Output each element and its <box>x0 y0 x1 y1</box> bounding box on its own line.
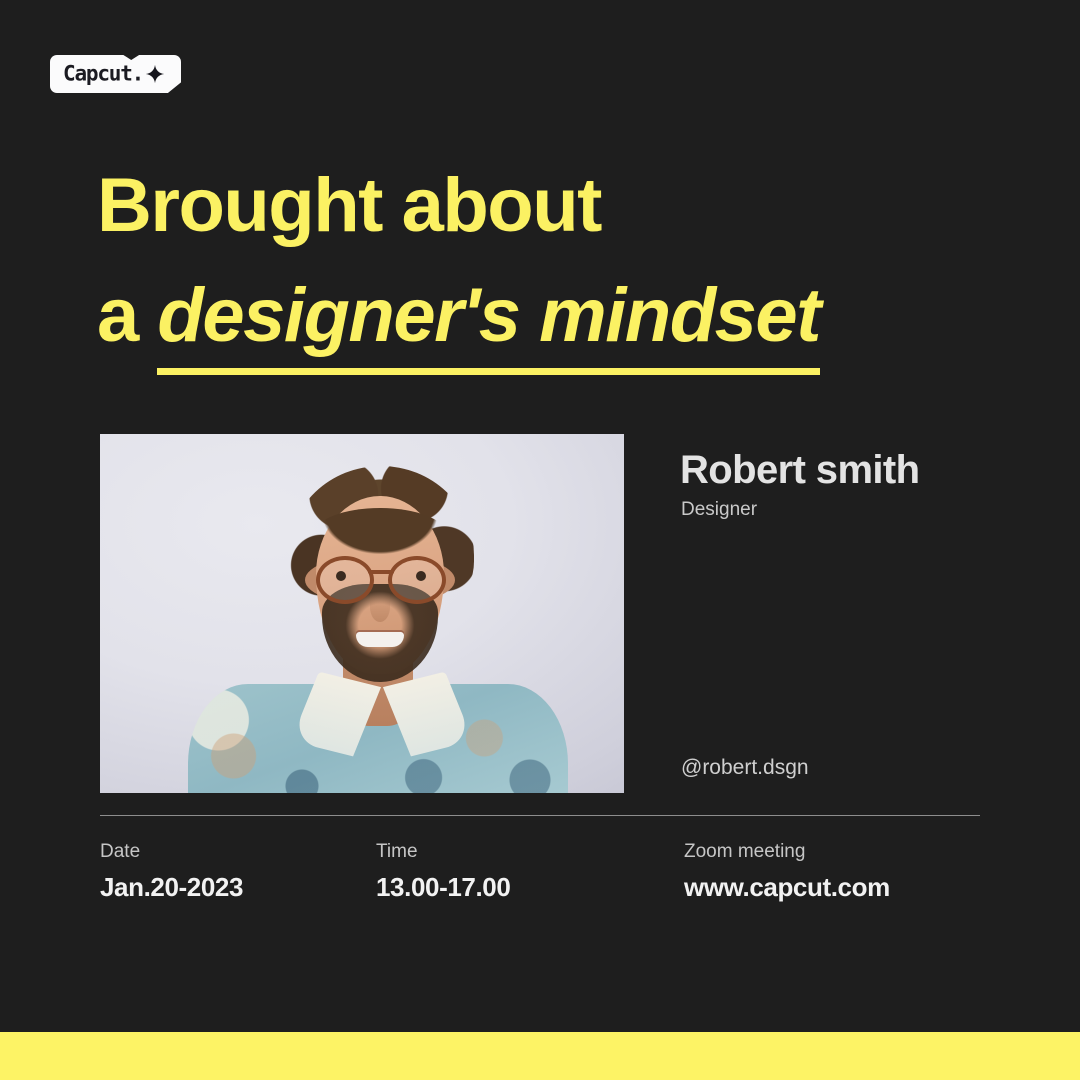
detail-date: Date Jan.20-2023 <box>100 841 376 903</box>
photo-glasses <box>314 556 448 596</box>
headline-line-2: a designer's mindset <box>97 278 977 354</box>
detail-zoom-meeting: Zoom meeting www.capcut.com <box>684 841 980 903</box>
photo-fringe <box>314 508 446 560</box>
bottom-accent-bar <box>0 1032 1080 1080</box>
headline-line-1: Brought about <box>97 168 977 244</box>
detail-date-label: Date <box>100 841 376 864</box>
headline-emphasis: designer's mindset <box>157 273 820 375</box>
photo-eye-right <box>416 571 426 581</box>
event-poster: Capcut. Brought about a designer's minds… <box>0 0 1080 1080</box>
detail-time-value: 13.00-17.00 <box>376 872 684 903</box>
photo-eye-left <box>336 571 346 581</box>
page-title: Brought about a designer's mindset <box>97 168 977 354</box>
section-divider <box>100 815 980 816</box>
detail-time: Time 13.00-17.00 <box>376 841 684 903</box>
photo-nose <box>370 592 390 622</box>
photo-smile <box>356 632 404 647</box>
sparkle-star-icon <box>145 64 165 84</box>
speaker-social-handle[interactable]: @robert.dsgn <box>681 756 809 780</box>
detail-zoom-label: Zoom meeting <box>684 841 980 864</box>
glasses-lens-left <box>316 556 374 604</box>
speaker-name: Robert smith <box>680 448 919 492</box>
detail-zoom-value[interactable]: www.capcut.com <box>684 872 980 903</box>
headline-prefix: a <box>97 273 157 358</box>
capcut-logo-badge[interactable]: Capcut. <box>50 55 181 93</box>
speaker-photo <box>100 434 624 793</box>
event-details-row: Date Jan.20-2023 Time 13.00-17.00 Zoom m… <box>100 841 980 903</box>
detail-date-value: Jan.20-2023 <box>100 872 376 903</box>
detail-time-label: Time <box>376 841 684 864</box>
speaker-role: Designer <box>681 499 757 521</box>
glasses-bridge <box>368 570 394 574</box>
logo-wordmark: Capcut. <box>63 64 143 85</box>
